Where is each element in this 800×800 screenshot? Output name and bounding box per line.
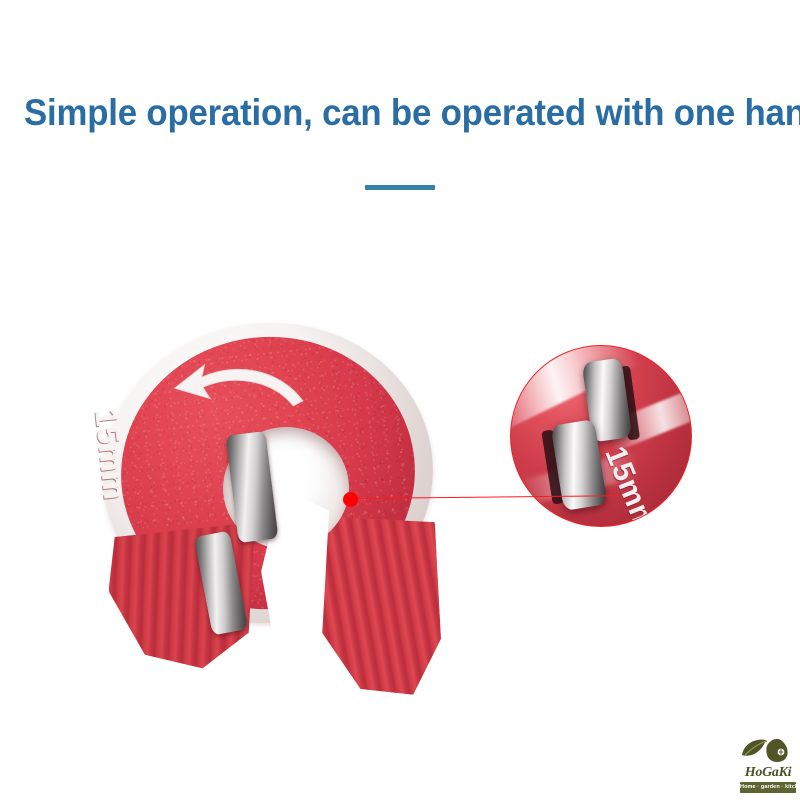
brand-logo: HoGaKi Home · garden · kitchen: [738, 735, 798, 795]
product-photo: 15mm 15mm Pulley design: [0, 300, 800, 730]
brand-tagline: Home · garden · kitchen: [740, 782, 796, 793]
product-feature-slide: Simple operation, can be operated with o…: [0, 0, 800, 800]
title-divider: [365, 185, 435, 190]
brand-name: HoGaKi: [738, 765, 798, 781]
page-title: Simple operation, can be operated with o…: [24, 92, 776, 134]
tube-cutter-product: 15mm: [95, 315, 445, 705]
leaf-house-icon: [738, 735, 798, 767]
magnified-detail-circle: 15mm: [510, 345, 692, 527]
callout-point-marker: [343, 492, 358, 507]
